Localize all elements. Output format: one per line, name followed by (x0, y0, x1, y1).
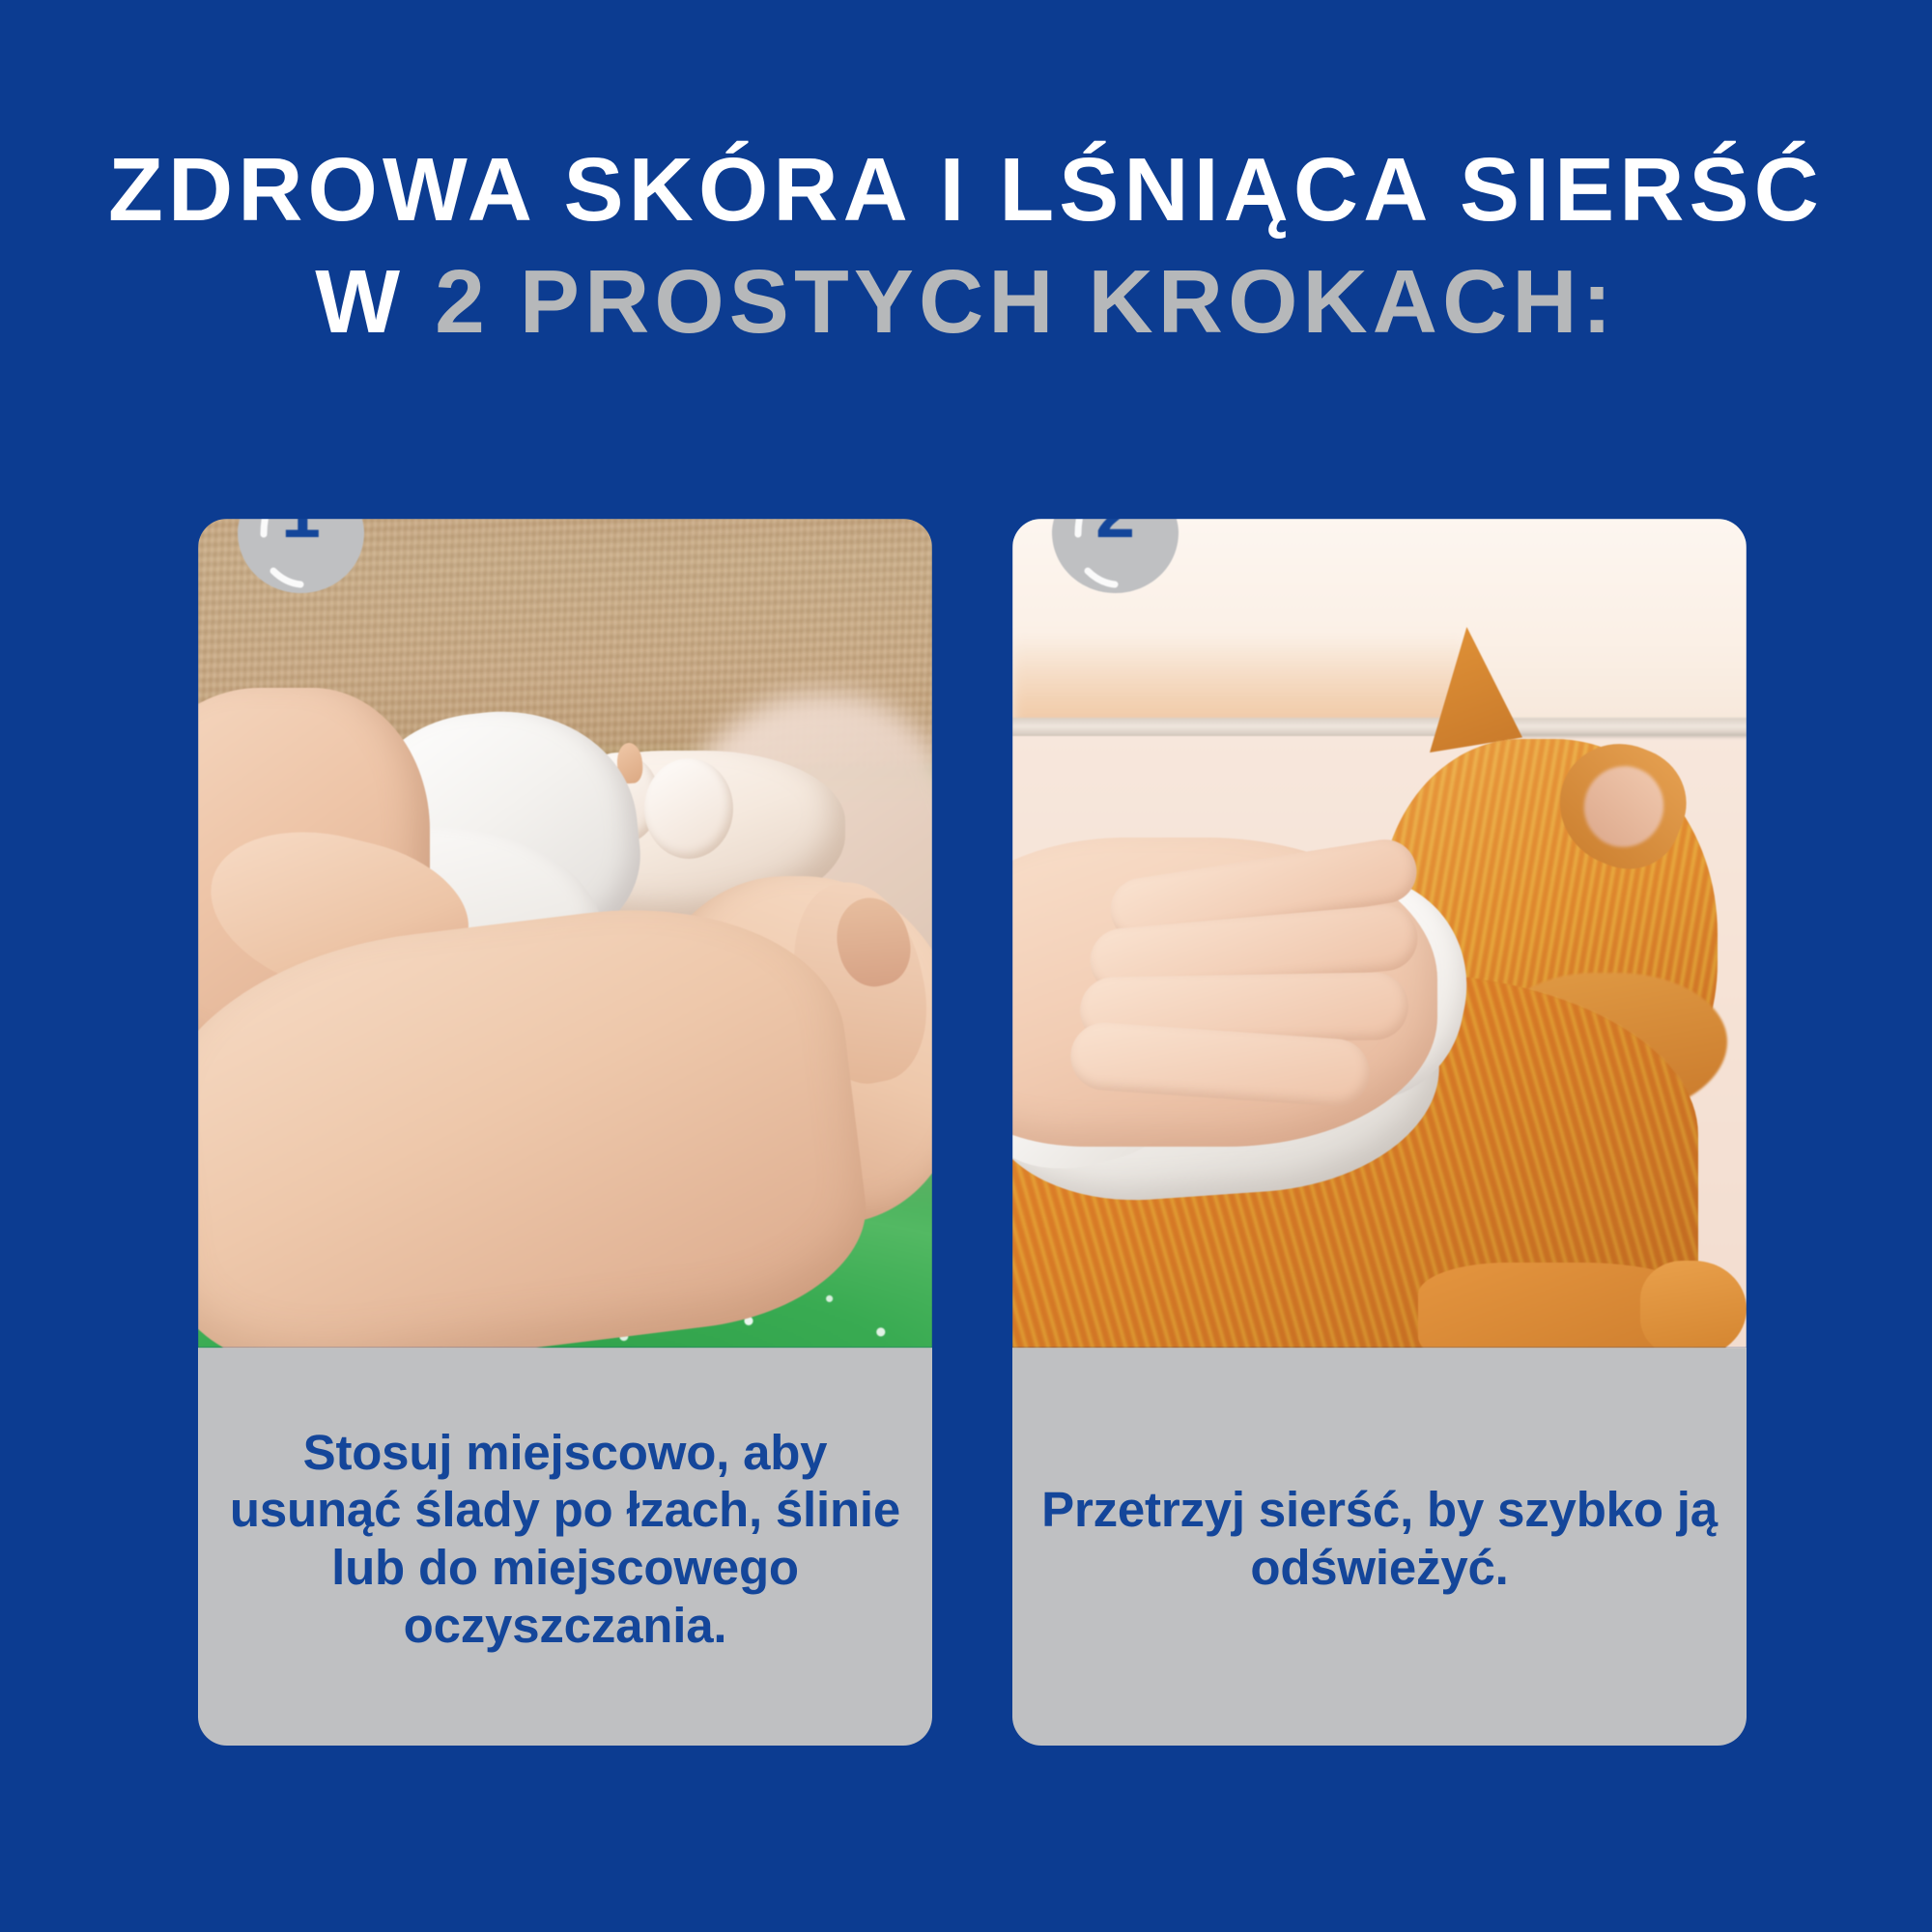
step-1-number: 1 (231, 519, 371, 549)
step-card-1-inner: 1 Stosuj miejscowo, aby usunąć ślady po … (198, 519, 932, 1746)
step-1-caption-text: Stosuj miejscowo, aby usunąć ślady po łz… (215, 1424, 915, 1655)
step-card-1[interactable]: 1 Stosuj miejscowo, aby usunąć ślady po … (198, 519, 932, 1746)
step-2-number: 2 (1045, 519, 1185, 549)
headline-line-2-rest: 2 PROSTYCH KROKACH: (435, 251, 1617, 352)
step-2-photo: 2 (1012, 519, 1747, 1348)
step-1-badge: 1 (231, 519, 371, 596)
promo-banner: ZDROWA SKÓRA I LŚNIĄCA SIERŚĆ W 2 PROSTY… (0, 0, 1932, 1932)
step-2-badge: 2 (1045, 519, 1185, 596)
step-card-2-inner: 2 Przetrzyj sierść, by szybko ją odśwież… (1012, 519, 1747, 1746)
photo-wall-warm-light (1012, 635, 1466, 731)
step-2-caption: Przetrzyj sierść, by szybko ją odświeżyć… (1012, 1348, 1747, 1746)
headline-line-2: W 2 PROSTYCH KROKACH: (0, 257, 1932, 347)
step-1-caption: Stosuj miejscowo, aby usunąć ślady po łz… (198, 1348, 932, 1746)
photo-cat-paw-tip (1640, 1261, 1747, 1348)
photo-dog-toe (644, 758, 733, 859)
step-card-2[interactable]: 2 Przetrzyj sierść, by szybko ją odśwież… (1012, 519, 1747, 1746)
steps-container: 1 Stosuj miejscowo, aby usunąć ślady po … (198, 519, 1747, 1746)
step-2-caption-text: Przetrzyj sierść, by szybko ją odświeżyć… (1030, 1481, 1729, 1596)
page-title: ZDROWA SKÓRA I LŚNIĄCA SIERŚĆ W 2 PROSTY… (0, 145, 1932, 347)
headline-line-2-prefix: W (315, 251, 405, 352)
headline-line-1: ZDROWA SKÓRA I LŚNIĄCA SIERŚĆ (0, 145, 1932, 235)
step-1-photo: 1 (198, 519, 932, 1348)
